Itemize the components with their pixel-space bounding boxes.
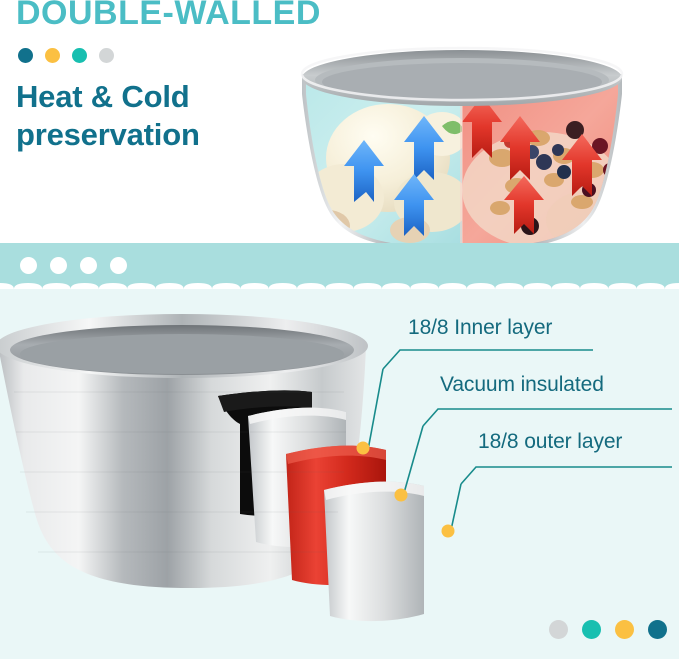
- band-dot-2: [50, 257, 67, 274]
- subtitle-line-1: Heat & Cold: [16, 79, 189, 114]
- accent-dot-row: [18, 48, 114, 63]
- footer-dot-yellow: [615, 620, 634, 639]
- band-dot-3: [80, 257, 97, 274]
- subtitle: Heat & Cold preservation: [16, 78, 296, 154]
- band-dot-row: [20, 257, 127, 274]
- subtitle-line-2: preservation: [16, 116, 296, 154]
- footer-dot-dark-teal: [648, 620, 667, 639]
- split-bowl-photo: [292, 30, 632, 243]
- callout-marker-outer: [442, 525, 455, 538]
- top-section: DOUBLE-WALLED Heat & Cold preservation: [0, 0, 679, 243]
- footer-dot-row: [549, 620, 667, 639]
- accent-dot-dark-teal: [18, 48, 33, 63]
- page-title: DOUBLE-WALLED: [16, 0, 321, 33]
- callout-marker-vacuum: [395, 489, 408, 502]
- footer-dot-bright-teal: [582, 620, 601, 639]
- callout-leader-lines: [0, 290, 679, 659]
- accent-dot-bright-teal: [72, 48, 87, 63]
- bottom-section: 18/8 Inner layer Vacuum insulated 18/8 o…: [0, 290, 679, 659]
- callout-marker-inner: [357, 442, 370, 455]
- accent-dot-gray: [99, 48, 114, 63]
- infographic-canvas: DOUBLE-WALLED Heat & Cold preservation: [0, 0, 679, 659]
- accent-dot-yellow: [45, 48, 60, 63]
- footer-dot-gray: [549, 620, 568, 639]
- band-dot-1: [20, 257, 37, 274]
- band-dot-4: [110, 257, 127, 274]
